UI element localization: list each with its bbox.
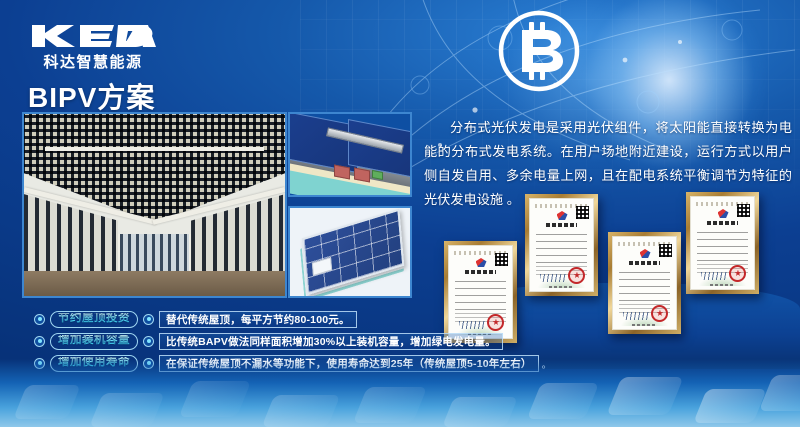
bullet-ring-icon: [143, 336, 154, 347]
certificate-footer-line: [710, 284, 735, 286]
certificate-signature: [540, 274, 566, 282]
certificate-seal-icon: [487, 314, 504, 331]
certificate-seal-icon: [651, 305, 668, 322]
certificate-title-line: [707, 221, 737, 225]
page-title: BIPV方案: [28, 76, 155, 116]
deco-square: [353, 387, 428, 423]
certificate-frame: [608, 232, 681, 334]
certificate-title-line: [629, 261, 659, 265]
benefit-badge[interactable]: 节约屋顶投资: [50, 311, 138, 328]
mounting-detail-diagram: [288, 112, 412, 197]
certificate-qr-icon: [576, 206, 589, 219]
certificate-emblem-icon: [557, 211, 568, 220]
bipv-solution-poster: 科达智慧能源 BIPV方案: [0, 0, 800, 427]
benefit-badge[interactable]: 增加装机容量: [50, 333, 138, 350]
certificate-item: [444, 241, 517, 343]
certificate-body-lines: [455, 279, 507, 310]
certificate-footer-line: [549, 286, 574, 288]
certificate-page: [529, 198, 594, 292]
certificate-seal-icon: [729, 265, 746, 282]
bottom-decorative-band: [0, 359, 800, 427]
certificate-page: [690, 196, 755, 290]
certificate-title-line: [546, 223, 576, 227]
certificate-qr-icon: [495, 253, 508, 266]
certificate-body-lines: [619, 270, 671, 301]
certificate-emblem-icon: [476, 258, 487, 267]
benefit-description: 替代传统屋顶，每平方节约80-100元。: [159, 311, 357, 328]
roof-ridge: [45, 147, 264, 151]
certificate-emblem-icon: [640, 249, 651, 258]
keda-wordmark-icon: [28, 22, 158, 50]
certificate-frame: [686, 192, 759, 294]
benefit-description: 比传统BAPV做法同样面积增加30%以上装机容量，增加绿电发电量。: [159, 333, 503, 350]
certificate-frame: [525, 194, 598, 296]
bullet-ring-icon: [143, 314, 154, 325]
certificate-qr-icon: [659, 244, 672, 257]
brand-logo: 科达智慧能源: [28, 22, 158, 72]
benefit-row: 增加装机容量 比传统BAPV做法同样面积增加30%以上装机容量，增加绿电发电量。: [34, 330, 454, 352]
deco-square: [759, 375, 800, 411]
benefit-row: 节约屋顶投资 替代传统屋顶，每平方节约80-100元。: [34, 308, 454, 330]
floor-area: [24, 271, 285, 296]
certificate-seal-icon: [568, 267, 585, 284]
brand-logo-cn: 科达智慧能源: [28, 51, 158, 72]
certificate-signature: [701, 272, 727, 280]
certificate-body-lines: [536, 232, 588, 263]
deco-square: [442, 397, 518, 427]
deco-square: [89, 393, 165, 427]
certificate-qr-icon: [737, 204, 750, 217]
deco-square: [262, 395, 341, 427]
certificate-item: [686, 192, 759, 294]
certificate-item: [525, 194, 598, 296]
certificate-signature: [459, 321, 485, 329]
bipv-skylight-photo: [22, 112, 287, 298]
deco-square: [527, 383, 600, 419]
solar-module-3d-diagram: [288, 206, 412, 298]
deco-square: [179, 381, 252, 417]
deco-square: [693, 389, 767, 423]
bitcoin-icon: [496, 8, 582, 94]
deco-square: [606, 377, 683, 415]
bullet-ring-icon: [34, 314, 45, 325]
certificate-item: [608, 232, 681, 334]
certificate-page: [612, 236, 677, 330]
certificate-body-lines: [697, 230, 749, 261]
certificate-emblem-icon: [718, 209, 729, 218]
benefit-badge-label: 增加装机容量: [58, 335, 130, 347]
certificate-footer-line: [632, 324, 657, 326]
certificate-signature: [623, 312, 649, 320]
certificate-title-line: [465, 270, 495, 274]
bullet-ring-icon: [34, 336, 45, 347]
atrium-scene: [24, 114, 285, 296]
benefit-badge-label: 节约屋顶投资: [58, 313, 130, 325]
deco-square: [13, 385, 81, 419]
certificate-frame: [444, 241, 517, 343]
certificate-page: [448, 245, 513, 339]
